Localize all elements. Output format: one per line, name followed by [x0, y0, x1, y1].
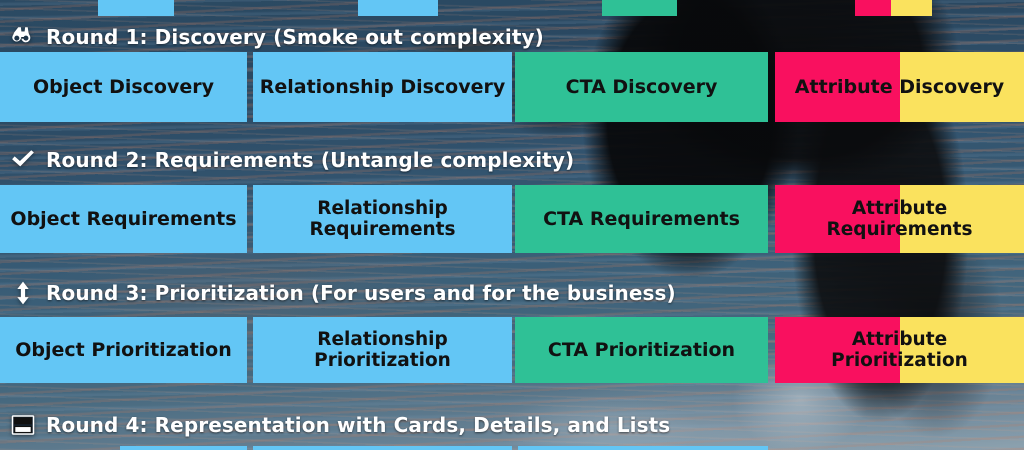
round-4-title: Round 4: Representation with Cards, Deta…: [46, 413, 670, 437]
binoculars-icon: [10, 24, 36, 50]
round-3-row: Object PrioritizationRelationship Priori…: [0, 317, 1024, 383]
round-cell-label: Attribute Prioritization: [831, 329, 968, 372]
round-cell-label: Object Discovery: [33, 76, 214, 98]
round-3-header: Round 3: Prioritization (For users and f…: [0, 278, 676, 308]
round-cell[interactable]: Relationship Prioritization: [253, 317, 512, 383]
round-cell-label: Attribute Discovery: [795, 76, 1004, 98]
round-cell-label: CTA Discovery: [566, 76, 718, 98]
round-3-title: Round 3: Prioritization (For users and f…: [46, 281, 676, 305]
round-2-header: Round 2: Requirements (Untangle complexi…: [0, 145, 574, 175]
round-cell[interactable]: CTA Requirements: [515, 185, 768, 253]
previous-row-partial: [0, 0, 1024, 16]
round-cell[interactable]: Object Prioritization: [0, 317, 247, 383]
round-cell-label: Relationship Prioritization: [314, 329, 451, 372]
round-1-title: Round 1: Discovery (Smoke out complexity…: [46, 25, 544, 49]
round-cell[interactable]: Relationship Requirements: [253, 185, 512, 253]
previous-row-cell[interactable]: [602, 0, 677, 16]
previous-row-cell[interactable]: [855, 0, 891, 16]
slide-canvas: Round 1: Discovery (Smoke out complexity…: [0, 0, 1024, 450]
round-cell-label: Relationship Discovery: [260, 76, 506, 98]
round-1-header: Round 1: Discovery (Smoke out complexity…: [0, 22, 544, 52]
previous-row-cell[interactable]: [891, 0, 932, 16]
round-cell-label: Object Requirements: [10, 208, 236, 230]
up-down-arrow-icon: [10, 280, 36, 306]
round-2-row: Object RequirementsRelationship Requirem…: [0, 185, 1024, 253]
round-cell[interactable]: Attribute Prioritization: [775, 317, 1024, 383]
round-cell-label: Attribute Requirements: [826, 198, 972, 241]
round-cell-label: CTA Prioritization: [548, 339, 735, 361]
round-4-header: Round 4: Representation with Cards, Deta…: [0, 410, 670, 440]
round-cell[interactable]: Attribute Requirements: [775, 185, 1024, 253]
round-cell[interactable]: [253, 446, 512, 450]
ooux-rounds-grid: Round 1: Discovery (Smoke out complexity…: [0, 0, 1024, 450]
card-layout-icon: [10, 412, 36, 438]
round-2-title: Round 2: Requirements (Untangle complexi…: [46, 148, 574, 172]
round-cell[interactable]: CTA Prioritization: [515, 317, 768, 383]
round-cell-label: CTA Requirements: [543, 208, 740, 230]
round-cell[interactable]: Attribute Discovery: [775, 52, 1024, 122]
round-cell[interactable]: Relationship Discovery: [253, 52, 512, 122]
previous-row-cell[interactable]: [98, 0, 174, 16]
round-1-row: Object DiscoveryRelationship DiscoveryCT…: [0, 52, 1024, 122]
round-cell[interactable]: Object Discovery: [0, 52, 247, 122]
round-4-row: [0, 446, 1024, 450]
round-cell[interactable]: [518, 446, 768, 450]
previous-row-cell[interactable]: [358, 0, 438, 16]
round-cell[interactable]: Object Requirements: [0, 185, 247, 253]
round-cell[interactable]: CTA Discovery: [515, 52, 768, 122]
round-cell-label: Object Prioritization: [15, 339, 232, 361]
check-icon: [10, 147, 36, 173]
round-cell-label: Relationship Requirements: [309, 198, 455, 241]
round-cell[interactable]: [120, 446, 247, 450]
